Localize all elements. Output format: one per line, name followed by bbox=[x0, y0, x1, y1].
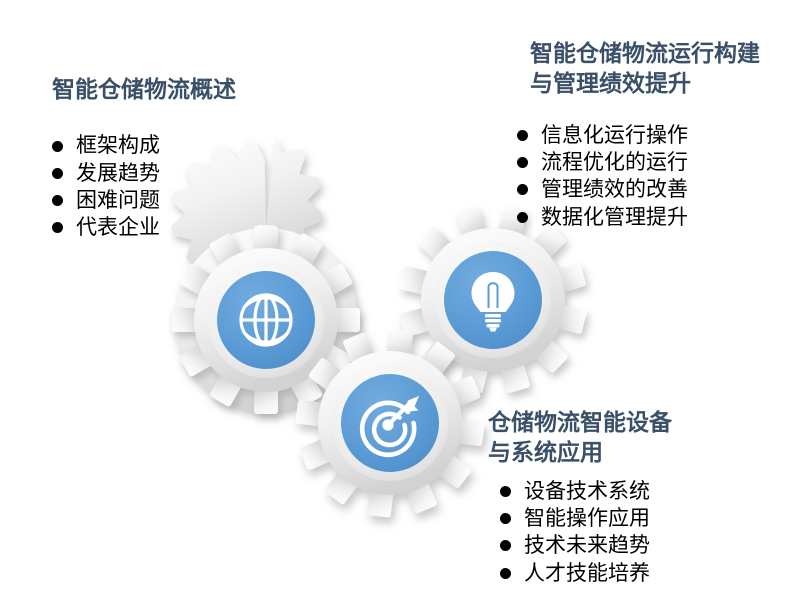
list-item-label: 技术未来趋势 bbox=[524, 532, 650, 559]
block-operation-title: 智能仓储物流运行构建 与管理绩效提升 bbox=[530, 38, 760, 99]
list-item-label: 困难问题 bbox=[76, 187, 160, 214]
list-item: 智能操作应用 bbox=[500, 505, 672, 532]
bullet-icon bbox=[52, 168, 63, 179]
list-item-label: 人才技能培养 bbox=[524, 560, 650, 587]
bullet-icon bbox=[500, 568, 511, 579]
block-overview-title: 智能仓储物流概述 bbox=[52, 74, 236, 104]
list-item-label: 信息化运行操作 bbox=[541, 122, 688, 149]
block-overview-bullets: 框架构成 发展趋势 困难问题 代表企业 bbox=[52, 132, 236, 241]
block-equipment-title-line-2: 与系统应用 bbox=[488, 437, 672, 467]
list-item: 管理绩效的改善 bbox=[517, 176, 760, 203]
list-item: 代表企业 bbox=[52, 214, 236, 241]
list-item: 技术未来趋势 bbox=[500, 532, 672, 559]
gear-target bbox=[295, 328, 485, 518]
list-item: 设备技术系统 bbox=[500, 478, 672, 505]
bullet-icon bbox=[517, 184, 528, 195]
list-item-label: 设备技术系统 bbox=[524, 478, 650, 505]
bullet-icon bbox=[52, 222, 63, 233]
bullet-icon bbox=[500, 540, 511, 551]
slide-canvas: 智能仓储物流概述 框架构成 发展趋势 困难问题 代表企业 智能仓储物流运行构建 bbox=[0, 0, 810, 597]
block-equipment-title-line-1: 仓储物流智能设备 bbox=[488, 407, 672, 437]
block-equipment-title: 仓储物流智能设备 与系统应用 bbox=[488, 407, 672, 468]
list-item: 数据化管理提升 bbox=[517, 204, 760, 231]
list-item: 困难问题 bbox=[52, 187, 236, 214]
bullet-icon bbox=[500, 513, 511, 524]
block-operation-title-line-2: 与管理绩效提升 bbox=[530, 68, 760, 98]
list-item: 发展趋势 bbox=[52, 160, 236, 187]
text-block-equipment: 仓储物流智能设备 与系统应用 设备技术系统 智能操作应用 技术未来趋势 人才技能… bbox=[488, 407, 672, 587]
block-operation-bullets: 信息化运行操作 流程优化的运行 管理绩效的改善 数据化管理提升 bbox=[517, 122, 760, 231]
list-item: 框架构成 bbox=[52, 132, 236, 159]
bullet-icon bbox=[52, 195, 63, 206]
bullet-icon bbox=[517, 212, 528, 223]
list-item-label: 框架构成 bbox=[76, 132, 160, 159]
bullet-icon bbox=[500, 486, 511, 497]
list-item: 流程优化的运行 bbox=[517, 149, 760, 176]
list-item-label: 数据化管理提升 bbox=[541, 204, 688, 231]
text-block-operation: 智能仓储物流运行构建 与管理绩效提升 信息化运行操作 流程优化的运行 管理绩效的… bbox=[530, 38, 760, 231]
list-item: 人才技能培养 bbox=[500, 560, 672, 587]
block-equipment-bullets: 设备技术系统 智能操作应用 技术未来趋势 人才技能培养 bbox=[500, 478, 672, 587]
bullet-icon bbox=[517, 130, 528, 141]
list-item-label: 发展趋势 bbox=[76, 160, 160, 187]
globe-icon bbox=[241, 295, 291, 345]
list-item-label: 代表企业 bbox=[76, 214, 160, 241]
block-operation-title-line-1: 智能仓储物流运行构建 bbox=[530, 38, 760, 68]
list-item-label: 管理绩效的改善 bbox=[541, 176, 688, 203]
list-item: 信息化运行操作 bbox=[517, 122, 760, 149]
list-item-label: 智能操作应用 bbox=[524, 505, 650, 532]
block-overview-title-line-1: 智能仓储物流概述 bbox=[52, 74, 236, 104]
bullet-icon bbox=[52, 141, 63, 152]
text-block-overview: 智能仓储物流概述 框架构成 发展趋势 困难问题 代表企业 bbox=[52, 74, 236, 242]
bullet-icon bbox=[517, 157, 528, 168]
list-item-label: 流程优化的运行 bbox=[541, 149, 688, 176]
